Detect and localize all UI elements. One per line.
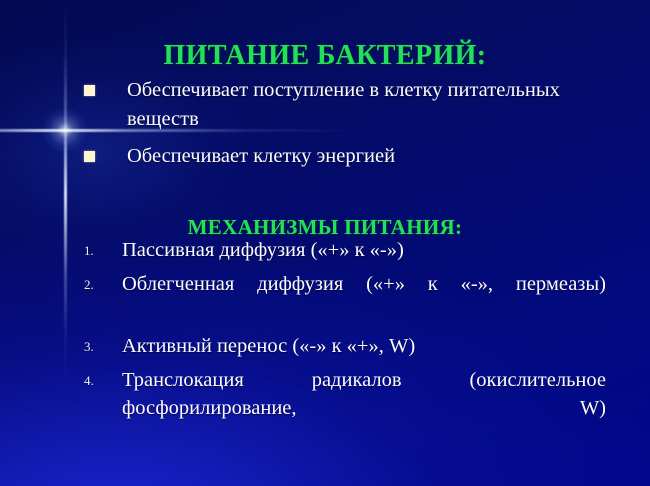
square-bullet-icon: [84, 151, 95, 162]
bullet-item-label: Обеспечивает поступление в клетку питате…: [127, 76, 584, 135]
list-item: Обеспечивает клетку энергией: [84, 142, 584, 171]
table-row: 3. Активный перенос («-» к «+», W): [84, 332, 606, 361]
numbered-item-label: Транслокация радикалов (окислительное фо…: [122, 366, 606, 452]
table-row: 4. Транслокация радикалов (окислительное…: [84, 366, 606, 452]
table-row: 1. Пассивная диффузия («+» к «-»): [84, 236, 606, 265]
list-number: 4.: [84, 373, 106, 389]
square-bullet-icon: [84, 85, 95, 96]
numbered-item-label: Активный перенос («-» к «+», W): [122, 332, 606, 361]
list-number: 2.: [84, 277, 106, 293]
list-number: 3.: [84, 339, 106, 355]
list-item: Обеспечивает поступление в клетку питате…: [84, 76, 584, 135]
numbered-list: 1. Пассивная диффузия («+» к «-») 2. Обл…: [84, 236, 606, 457]
bullet-list: Обеспечивает поступление в клетку питате…: [84, 76, 584, 178]
slide-content: ПИТАНИЕ БАКТЕРИЙ: Обеспечивает поступлен…: [0, 0, 650, 486]
numbered-item-label: Облегченная диффузия («+» к «-», пермеаз…: [122, 270, 606, 327]
list-number: 1.: [84, 243, 106, 259]
slide-title: ПИТАНИЕ БАКТЕРИЙ:: [0, 41, 650, 70]
presentation-slide: ПИТАНИЕ БАКТЕРИЙ: Обеспечивает поступлен…: [0, 0, 650, 486]
bullet-item-label: Обеспечивает клетку энергией: [127, 142, 584, 171]
numbered-item-label: Пассивная диффузия («+» к «-»): [122, 236, 606, 265]
table-row: 2. Облегченная диффузия («+» к «-», перм…: [84, 270, 606, 327]
